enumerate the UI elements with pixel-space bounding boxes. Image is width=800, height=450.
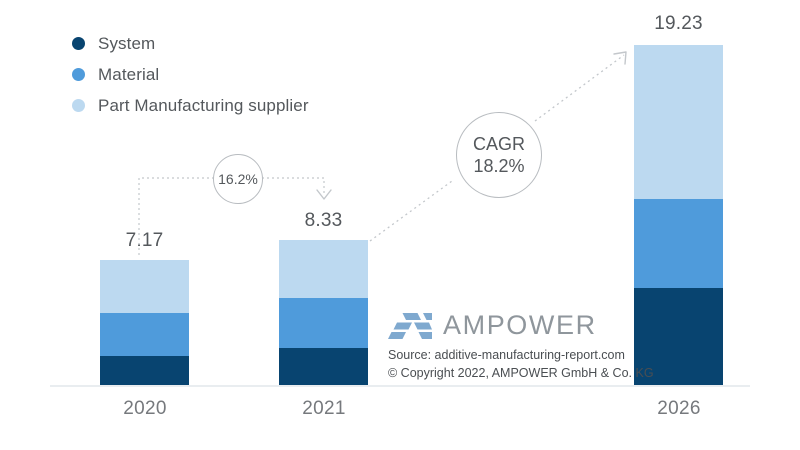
bar-segment-2020-system[interactable] <box>100 356 189 385</box>
bar-segment-2026-part-manufacturing-supplier[interactable] <box>634 45 723 199</box>
x-axis-label-2020: 2020 <box>85 398 205 420</box>
bar-segment-2021-material[interactable] <box>279 298 368 348</box>
growth-rate-value: 16.2% <box>218 171 258 187</box>
legend-label-part-manufacturing-supplier: Part Manufacturing supplier <box>98 96 309 116</box>
bar-segment-2021-part-manufacturing-supplier[interactable] <box>279 240 368 298</box>
bar-2021[interactable]: 8.33 <box>279 240 368 385</box>
bar-segment-2020-material[interactable] <box>100 313 189 356</box>
bar-segment-2020-part-manufacturing-supplier[interactable] <box>100 260 189 313</box>
legend-item-material[interactable]: Material <box>72 59 309 90</box>
growth-rate-badge-2020-2021: 16.2% <box>213 154 263 204</box>
legend-item-part-manufacturing-supplier[interactable]: Part Manufacturing supplier <box>72 90 309 121</box>
cagr-arrowhead-2026 <box>614 52 626 64</box>
legend-label-system: System <box>98 34 155 54</box>
ampower-wordmark: AMPOWER <box>443 310 597 341</box>
bar-value-2020: 7.17 <box>100 230 189 252</box>
bar-segment-2026-material[interactable] <box>634 199 723 288</box>
growth-arrowhead-2021 <box>317 190 331 199</box>
x-axis-baseline <box>50 385 750 387</box>
legend-swatch-part-manufacturing-icon <box>72 99 85 112</box>
chart-container: System Material Part Manufacturing suppl… <box>0 0 800 450</box>
legend-swatch-system-icon <box>72 37 85 50</box>
legend-swatch-material-icon <box>72 68 85 81</box>
x-axis-label-2026: 2026 <box>619 398 739 420</box>
x-axis-label-2021: 2021 <box>264 398 384 420</box>
legend-item-system[interactable]: System <box>72 28 309 59</box>
cagr-value: 18.2% <box>473 155 524 178</box>
legend-label-material: Material <box>98 65 159 85</box>
copyright-line: © Copyright 2022, AMPOWER GmbH & Co. KG <box>388 364 654 382</box>
source-line: Source: additive-manufacturing-report.co… <box>388 346 654 364</box>
source-block: Source: additive-manufacturing-report.co… <box>388 346 654 382</box>
bar-segment-2021-system[interactable] <box>279 348 368 385</box>
cagr-badge-2021-2026: CAGR 18.2% <box>456 112 542 198</box>
ampower-a-logo-icon <box>388 311 432 341</box>
bar-value-2021: 8.33 <box>279 210 368 232</box>
bar-value-2026: 19.23 <box>634 13 723 35</box>
cagr-label: CAGR <box>473 133 525 156</box>
ampower-brand: AMPOWER <box>388 310 597 341</box>
bar-2020[interactable]: 7.17 <box>100 260 189 385</box>
chart-legend: System Material Part Manufacturing suppl… <box>72 28 309 121</box>
bar-2026[interactable]: 19.23 <box>634 45 723 385</box>
